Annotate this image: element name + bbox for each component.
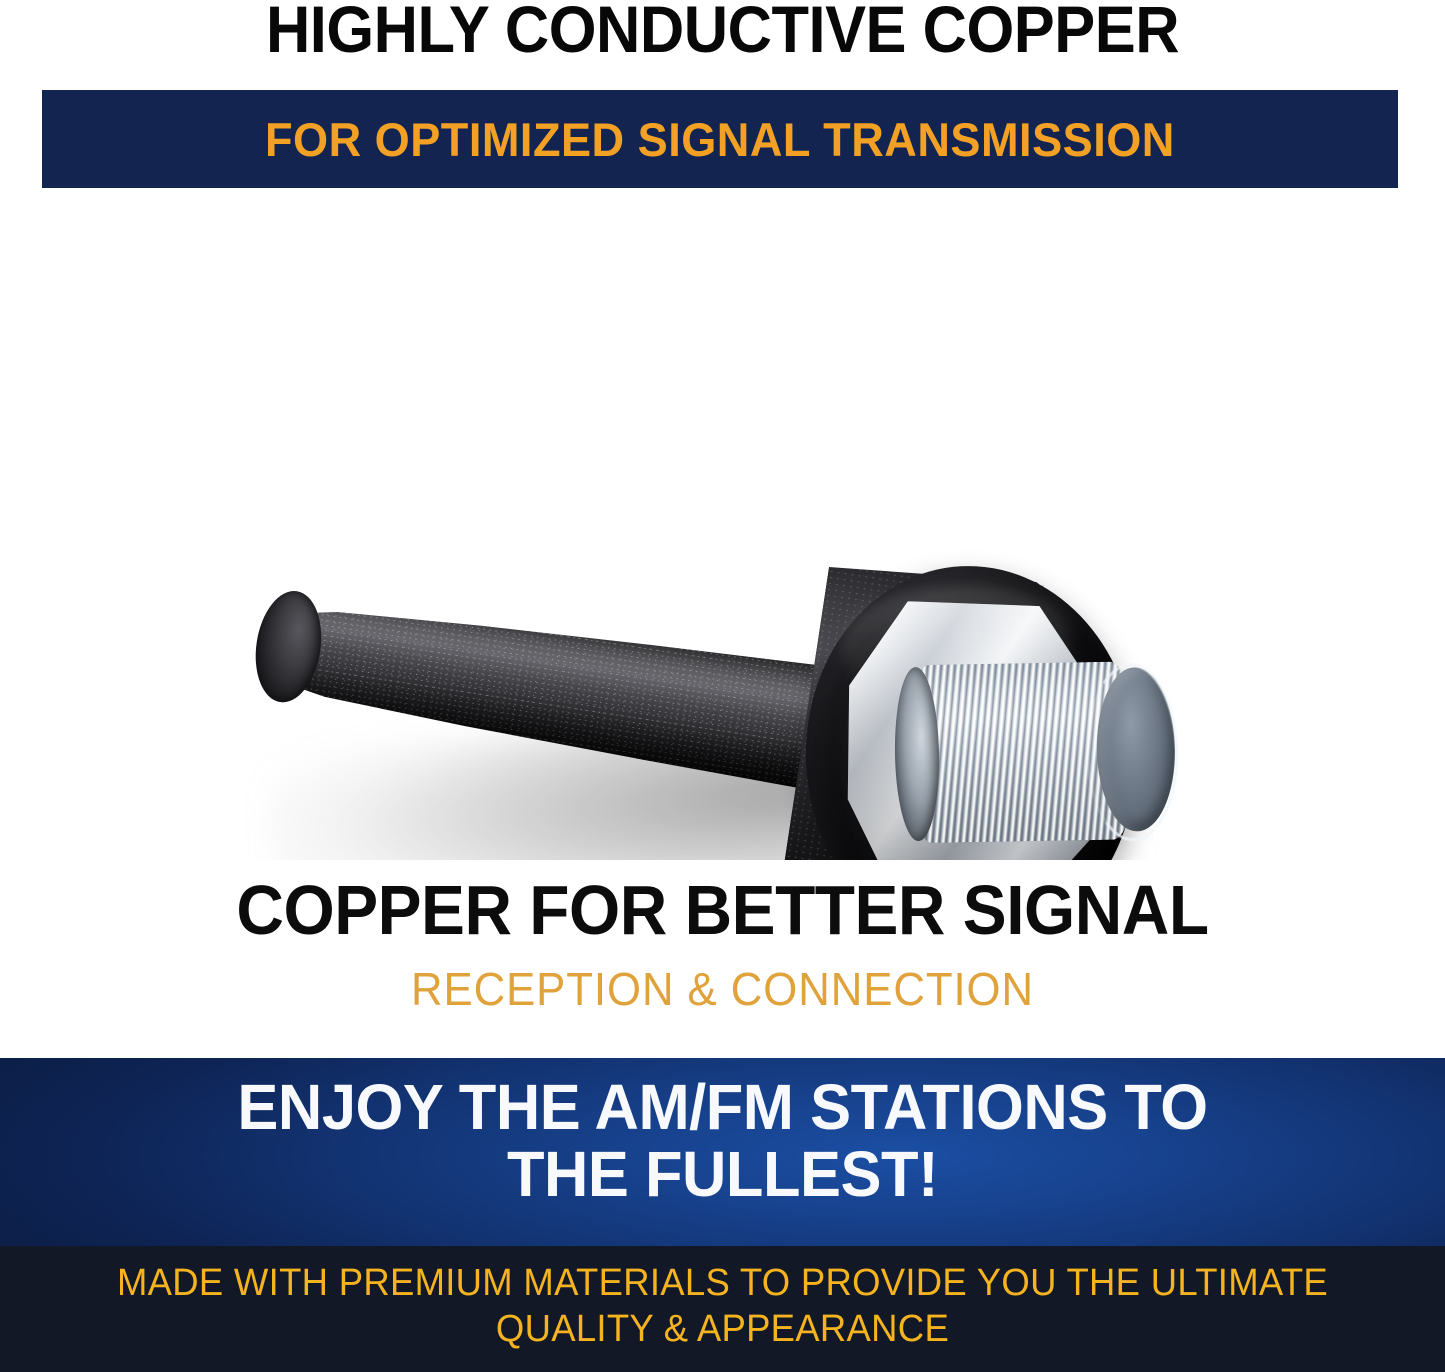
bottom-dark-text: MADE WITH PREMIUM MATERIALS TO PROVIDE Y… xyxy=(29,1260,1416,1353)
bottom-blue-line-2: THE FULLEST! xyxy=(29,1141,1416,1208)
product-marketing-image: HIGHLY CONDUCTIVE COPPER FOR OPTIMIZED S… xyxy=(0,0,1445,1372)
bottom-blue-banner: ENJOY THE AM/FM STATIONS TO THE FULLEST! xyxy=(0,1058,1445,1246)
bottom-blue-text: ENJOY THE AM/FM STATIONS TO THE FULLEST! xyxy=(29,1074,1416,1207)
middle-subheadline: RECEPTION & CONNECTION xyxy=(36,962,1409,1016)
middle-headline: COPPER FOR BETTER SIGNAL xyxy=(43,870,1401,950)
top-banner: FOR OPTIMIZED SIGNAL TRANSMISSION xyxy=(42,90,1398,188)
product-image-stage xyxy=(0,200,1445,860)
bottom-dark-line-1: MADE WITH PREMIUM MATERIALS TO PROVIDE Y… xyxy=(29,1260,1416,1306)
bottom-blue-line-1: ENJOY THE AM/FM STATIONS TO xyxy=(29,1074,1416,1141)
bottom-dark-line-2: QUALITY & APPEARANCE xyxy=(29,1306,1416,1352)
top-banner-text: FOR OPTIMIZED SIGNAL TRANSMISSION xyxy=(265,112,1175,167)
top-headline: HIGHLY CONDUCTIVE COPPER xyxy=(51,0,1395,65)
bottom-dark-strip: MADE WITH PREMIUM MATERIALS TO PROVIDE Y… xyxy=(0,1246,1445,1372)
threaded-bolt-shaft xyxy=(903,661,1174,844)
